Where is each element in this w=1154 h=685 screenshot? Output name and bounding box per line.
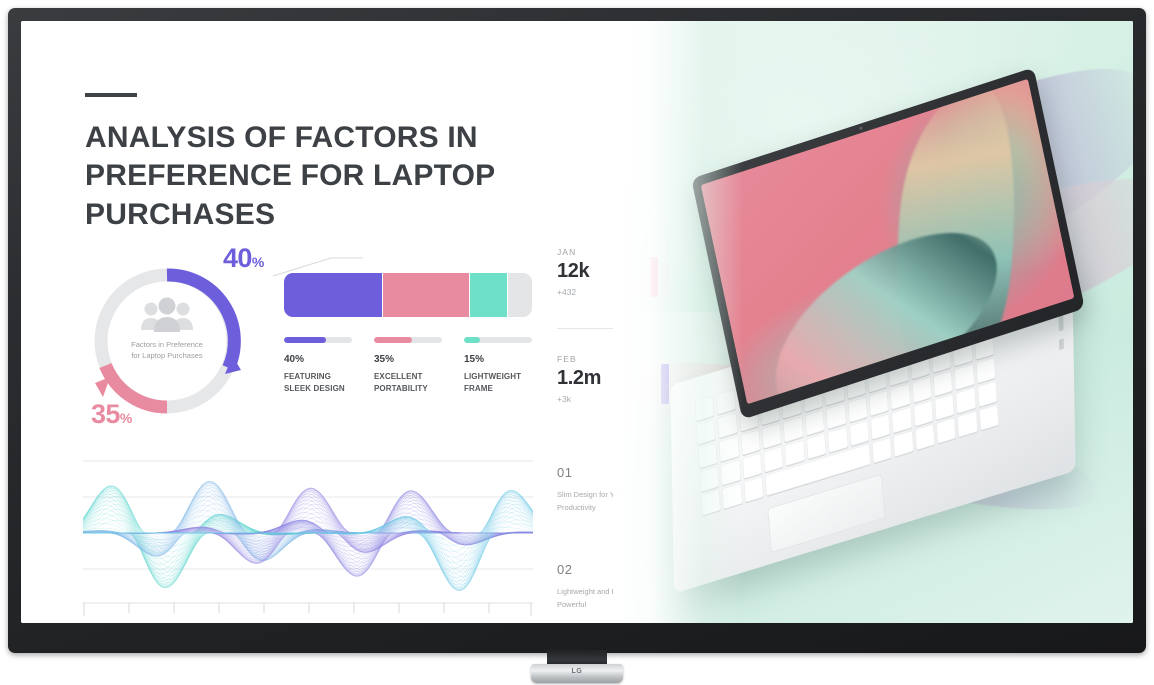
monitor-bezel: ANALYSIS OF FACTORS IN PREFERENCE FOR LA… [8, 8, 1146, 653]
laptop-product-photo [613, 21, 1133, 623]
stack-segment-lightweight [470, 273, 507, 317]
key [912, 377, 932, 403]
key [979, 405, 999, 431]
key [956, 388, 976, 414]
donut-center-line-2: for Laptop Purchases [131, 351, 202, 360]
key [913, 401, 933, 427]
legend-description: FEATURING SLEEK DESIGN [284, 371, 362, 395]
key [744, 476, 764, 502]
legend-description-line-1: LIGHTWEIGHT [464, 372, 521, 381]
stat-text-block: FEB 1.2m +3k [557, 354, 601, 404]
stat-value: 12k [557, 260, 589, 283]
key [977, 381, 997, 407]
wave-chart [83, 453, 533, 621]
legend-description: EXCELLENT PORTABILITY [374, 371, 452, 395]
stat-delta: +432 [557, 287, 589, 297]
legend-item-portability: 35% EXCELLENT PORTABILITY [374, 337, 452, 395]
stat-value: 1.2m [557, 367, 601, 390]
key [805, 410, 825, 436]
legend-track [284, 337, 352, 343]
donut-callout-bottom-unit: % [120, 410, 132, 426]
donut-callout-bottom-value: 35 [91, 399, 120, 429]
key [954, 364, 974, 390]
legend-description-line-1: EXCELLENT [374, 372, 422, 381]
key [828, 427, 848, 453]
wave-curves [83, 481, 533, 590]
key [785, 440, 805, 466]
legend-fill [284, 337, 326, 343]
donut-callout-top-value: 40 [223, 243, 252, 273]
key [892, 407, 912, 433]
stat-month-label: FEB [557, 354, 601, 364]
wave-axis-ticks [84, 603, 531, 616]
brand-logo: LG [531, 668, 623, 675]
donut-arrow-pink [95, 377, 110, 397]
stack-segment-other [508, 273, 533, 317]
key [915, 424, 935, 450]
note-text-line-2: Powerful [557, 600, 586, 609]
legend-description: LIGHTWEIGHT FRAME [464, 371, 542, 395]
key [783, 416, 803, 442]
donut-callout-top: 40% [223, 243, 264, 274]
legend-track [464, 337, 532, 343]
wave-line [83, 493, 533, 575]
key [806, 433, 826, 459]
page-title: ANALYSIS OF FACTORS IN PREFERENCE FOR LA… [85, 119, 665, 234]
key [742, 453, 762, 479]
monitor-device: ANALYSIS OF FACTORS IN PREFERENCE FOR LA… [0, 0, 1154, 685]
donut-center-text: Factors in Preference for Laptop Purchas… [109, 340, 225, 362]
legend-fill [374, 337, 412, 343]
legend-percent: 35% [374, 354, 452, 365]
stacked-share-bar [284, 273, 532, 317]
monitor-screen: ANALYSIS OF FACTORS IN PREFERENCE FOR LA… [21, 21, 1133, 623]
legend-description-line-1: FEATURING [284, 372, 331, 381]
donut-center-line-1: Factors in Preference [131, 340, 203, 349]
legend-percent: 40% [284, 354, 362, 365]
legend-item-sleek-design: 40% FEATURING SLEEK DESIGN [284, 337, 362, 395]
stack-segment-sleek-design [284, 273, 382, 317]
key [764, 446, 784, 472]
note-text-line-2: Productivity [557, 503, 596, 512]
photo-edge-fade [613, 21, 743, 623]
key [936, 418, 956, 444]
page-title-line-2: PREFERENCE FOR LAPTOP PURCHASES [85, 157, 665, 234]
key [872, 437, 892, 463]
legend-fill [464, 337, 480, 343]
legend-percent: 15% [464, 354, 542, 365]
key [849, 420, 869, 446]
key [870, 414, 890, 440]
stat-month-label: JAN [557, 247, 589, 257]
key [890, 384, 910, 410]
people-icon [137, 297, 197, 333]
legend-track [374, 337, 442, 343]
webcam-icon [860, 126, 863, 130]
presentation-slide: ANALYSIS OF FACTORS IN PREFERENCE FOR LA… [21, 21, 1133, 623]
stat-text-block: JAN 12k +432 [557, 247, 589, 297]
legend-description-line-2: SLEEK DESIGN [284, 384, 345, 393]
stat-delta: +3k [557, 394, 601, 404]
key [826, 403, 846, 429]
key [976, 357, 996, 383]
donut-center-label: Factors in Preference for Laptop Purchas… [109, 297, 225, 362]
stack-segment-portability [383, 273, 469, 317]
key [848, 397, 868, 423]
key [762, 423, 782, 449]
key [958, 411, 978, 437]
key [869, 390, 889, 416]
legend-description-line-2: PORTABILITY [374, 384, 428, 393]
factor-legend: 40% FEATURING SLEEK DESIGN 35% EXCELLENT… [284, 337, 542, 395]
donut-callout-bottom: 35% [91, 399, 132, 430]
wave-chart-svg [83, 453, 533, 621]
key [933, 371, 953, 397]
page-title-line-1: ANALYSIS OF FACTORS IN [85, 119, 665, 157]
legend-item-lightweight: 15% LIGHTWEIGHT FRAME [464, 337, 542, 395]
key [741, 429, 761, 455]
laptop-port [1059, 338, 1064, 350]
key [935, 394, 955, 420]
key [893, 431, 913, 457]
donut-callout-top-unit: % [252, 254, 264, 270]
title-accent-rule [85, 93, 137, 97]
legend-description-line-2: FRAME [464, 384, 493, 393]
laptop-port [1059, 315, 1064, 331]
